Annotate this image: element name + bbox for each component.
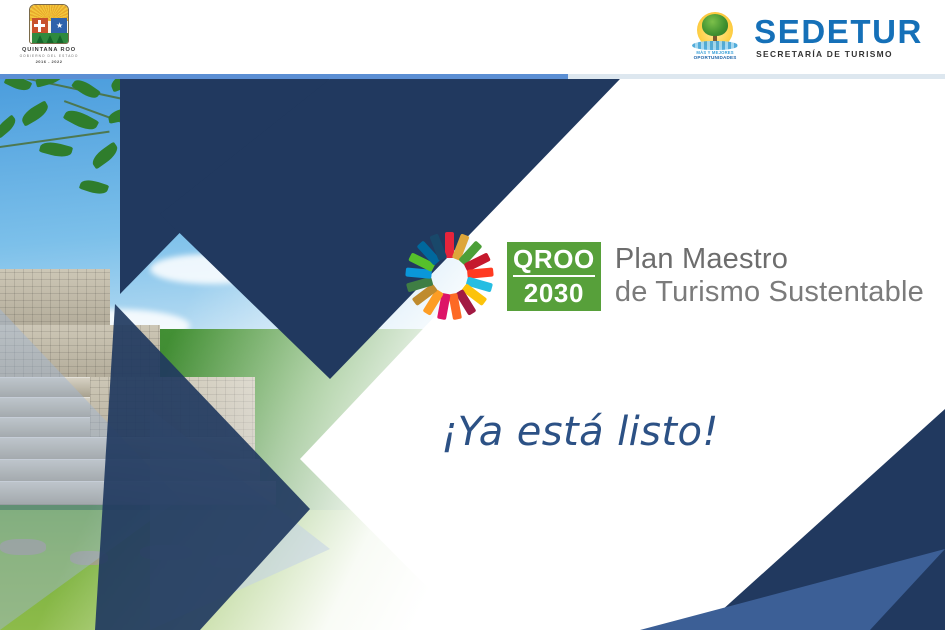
sedetur-subtitle: SECRETARÍA DE TURISMO xyxy=(756,49,923,59)
sedetur-logo[interactable]: MÁS Y MEJORES OPORTUNIDADES SEDETUR SECR… xyxy=(686,10,923,64)
qroo-2030-badge: QROO 2030 xyxy=(507,242,601,311)
sedetur-emblem-line2: OPORTUNIDADES xyxy=(686,55,744,60)
header-divider-accent xyxy=(0,74,568,79)
quintana-roo-name: QUINTANA ROO xyxy=(22,47,76,53)
quintana-roo-tagline: GOBIERNO DEL ESTADO xyxy=(20,54,79,58)
page-header: ★ QUINTANA ROO GOBIERNO DEL ESTADO 2016 … xyxy=(0,0,945,74)
hero-stage: QROO 2030 Plan Maestro de Turismo Susten… xyxy=(0,79,945,630)
brand-lockup: QROO 2030 Plan Maestro de Turismo Susten… xyxy=(405,232,924,320)
sedetur-emblem-icon: MÁS Y MEJORES OPORTUNIDADES xyxy=(686,11,744,63)
promo-banner: ★ QUINTANA ROO GOBIERNO DEL ESTADO 2016 … xyxy=(0,0,945,630)
quintana-roo-logo[interactable]: ★ QUINTANA ROO GOBIERNO DEL ESTADO 2016 … xyxy=(18,4,80,64)
quintana-roo-years: 2016 - 2022 xyxy=(36,59,63,64)
sedetur-brand-text: SEDETUR xyxy=(754,16,923,48)
plan-title-line2: de Turismo Sustentable xyxy=(615,276,924,309)
plan-title: Plan Maestro de Turismo Sustentable xyxy=(615,243,924,309)
qroo-badge-line1: QROO xyxy=(513,246,595,277)
sdg-color-wheel-icon xyxy=(405,232,493,320)
shape-navy-chevron-lower xyxy=(95,304,310,630)
coat-of-arms-icon: ★ xyxy=(29,4,69,44)
plan-title-line1: Plan Maestro xyxy=(615,243,924,276)
geometric-background xyxy=(0,79,945,630)
qroo-badge-line2: 2030 xyxy=(524,277,584,306)
